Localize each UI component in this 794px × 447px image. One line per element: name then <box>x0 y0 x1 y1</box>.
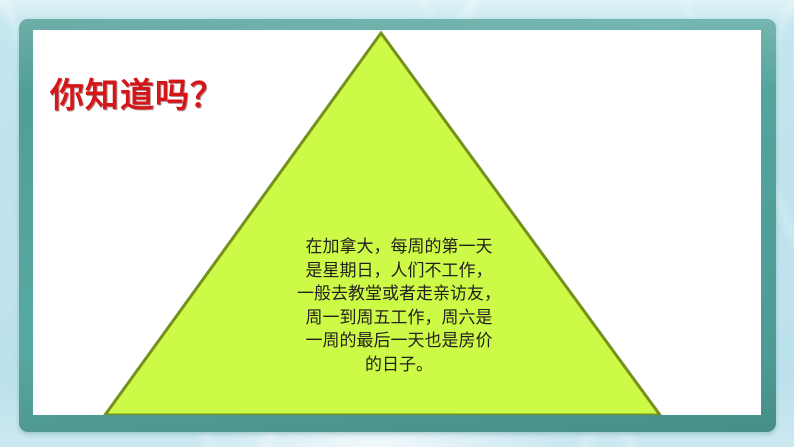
body-line: 一周的最后一天也是房价 <box>229 330 569 354</box>
slide-content-area: 你知道吗？ 在加拿大，每周的第一天 是星期日，人们不工作， 一般去教堂或者走亲访… <box>33 30 761 415</box>
body-line: 的日子。 <box>229 354 569 378</box>
page-title: 你知道吗？ <box>50 79 225 113</box>
slide-canvas: 你知道吗？ 在加拿大，每周的第一天 是星期日，人们不工作， 一般去教堂或者走亲访… <box>0 0 794 447</box>
body-line: 是星期日，人们不工作， <box>229 260 569 284</box>
body-line: 周一到周五工作，周六是 <box>229 307 569 331</box>
body-line: 在加拿大，每周的第一天 <box>229 236 569 260</box>
triangle-body-text: 在加拿大，每周的第一天 是星期日，人们不工作， 一般去教堂或者走亲访友， 周一到… <box>229 236 569 377</box>
body-line: 一般去教堂或者走亲访友， <box>229 283 569 307</box>
